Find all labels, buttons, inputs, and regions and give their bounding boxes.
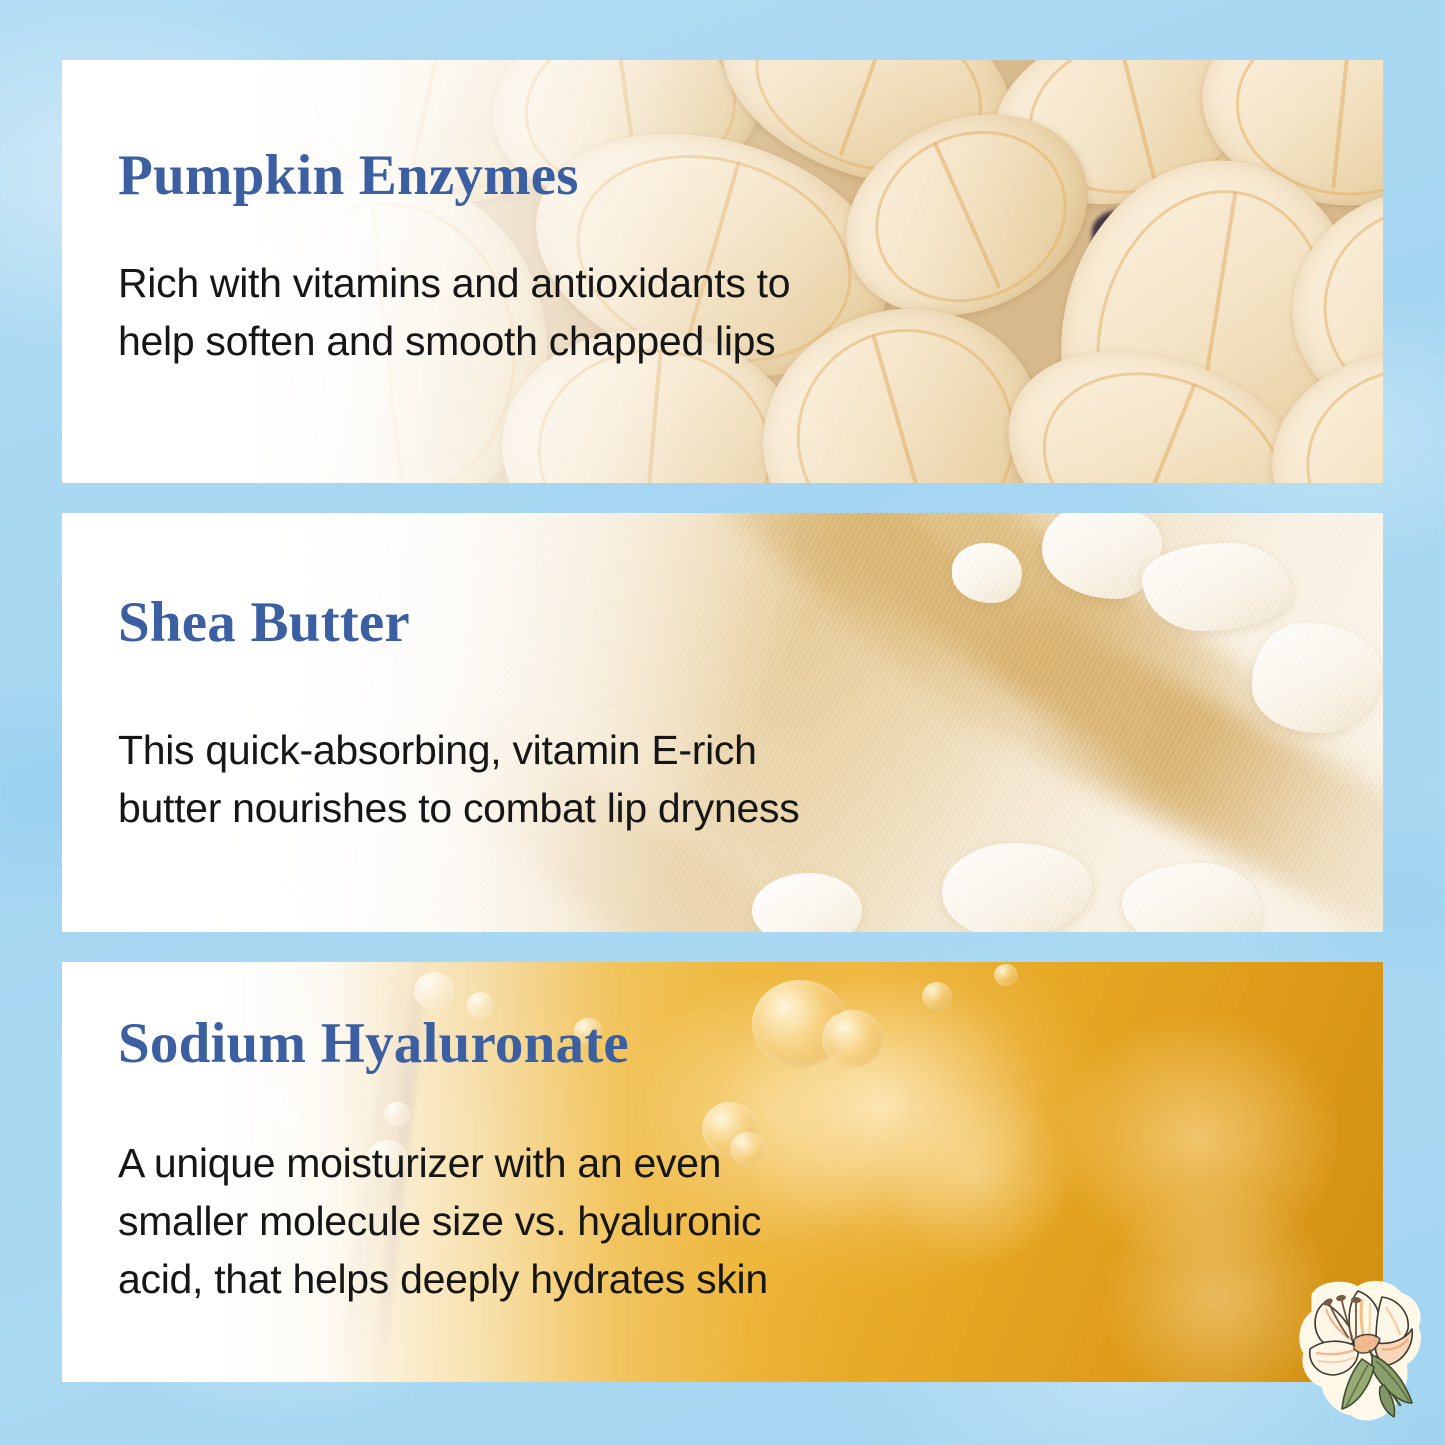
ingredient-title-sodium-hyaluronate: Sodium Hyaluronate	[118, 1014, 1383, 1074]
ingredient-description-pumpkin-enzymes: Rich with vitamins and antioxidants to h…	[118, 254, 998, 370]
description-line: butter nourishes to combat lip dryness	[118, 779, 998, 837]
card-text-block-shea-butter: Shea Butter This quick-absorbing, vitami…	[118, 593, 1383, 837]
card-text-block-sodium-hyaluronate: Sodium Hyaluronate A unique moisturizer …	[118, 1014, 1383, 1309]
card-text-block-pumpkin-enzymes: Pumpkin Enzymes Rich with vitamins and a…	[118, 146, 1383, 370]
ingredient-card-shea-butter: Shea Butter This quick-absorbing, vitami…	[62, 513, 1383, 932]
ingredient-card-sodium-hyaluronate: Sodium Hyaluronate A unique moisturizer …	[62, 962, 1383, 1382]
description-line: Rich with vitamins and antioxidants to	[118, 254, 998, 312]
ingredient-title-shea-butter: Shea Butter	[118, 593, 1383, 653]
lily-flower-sticker-logo	[1296, 1277, 1428, 1425]
ingredient-description-sodium-hyaluronate: A unique moisturizer with an even smalle…	[118, 1134, 998, 1309]
description-line: help soften and smooth chapped lips	[118, 312, 998, 370]
description-line: smaller molecule size vs. hyaluronic	[118, 1192, 998, 1250]
ingredient-title-pumpkin-enzymes: Pumpkin Enzymes	[118, 146, 1383, 206]
ingredient-description-shea-butter: This quick-absorbing, vitamin E-rich but…	[118, 721, 998, 837]
description-line: This quick-absorbing, vitamin E-rich	[118, 721, 998, 779]
ingredient-card-pumpkin-enzymes: Pumpkin Enzymes Rich with vitamins and a…	[62, 60, 1383, 483]
description-line: A unique moisturizer with an even	[118, 1134, 998, 1192]
description-line: acid, that helps deeply hydrates skin	[118, 1250, 998, 1308]
